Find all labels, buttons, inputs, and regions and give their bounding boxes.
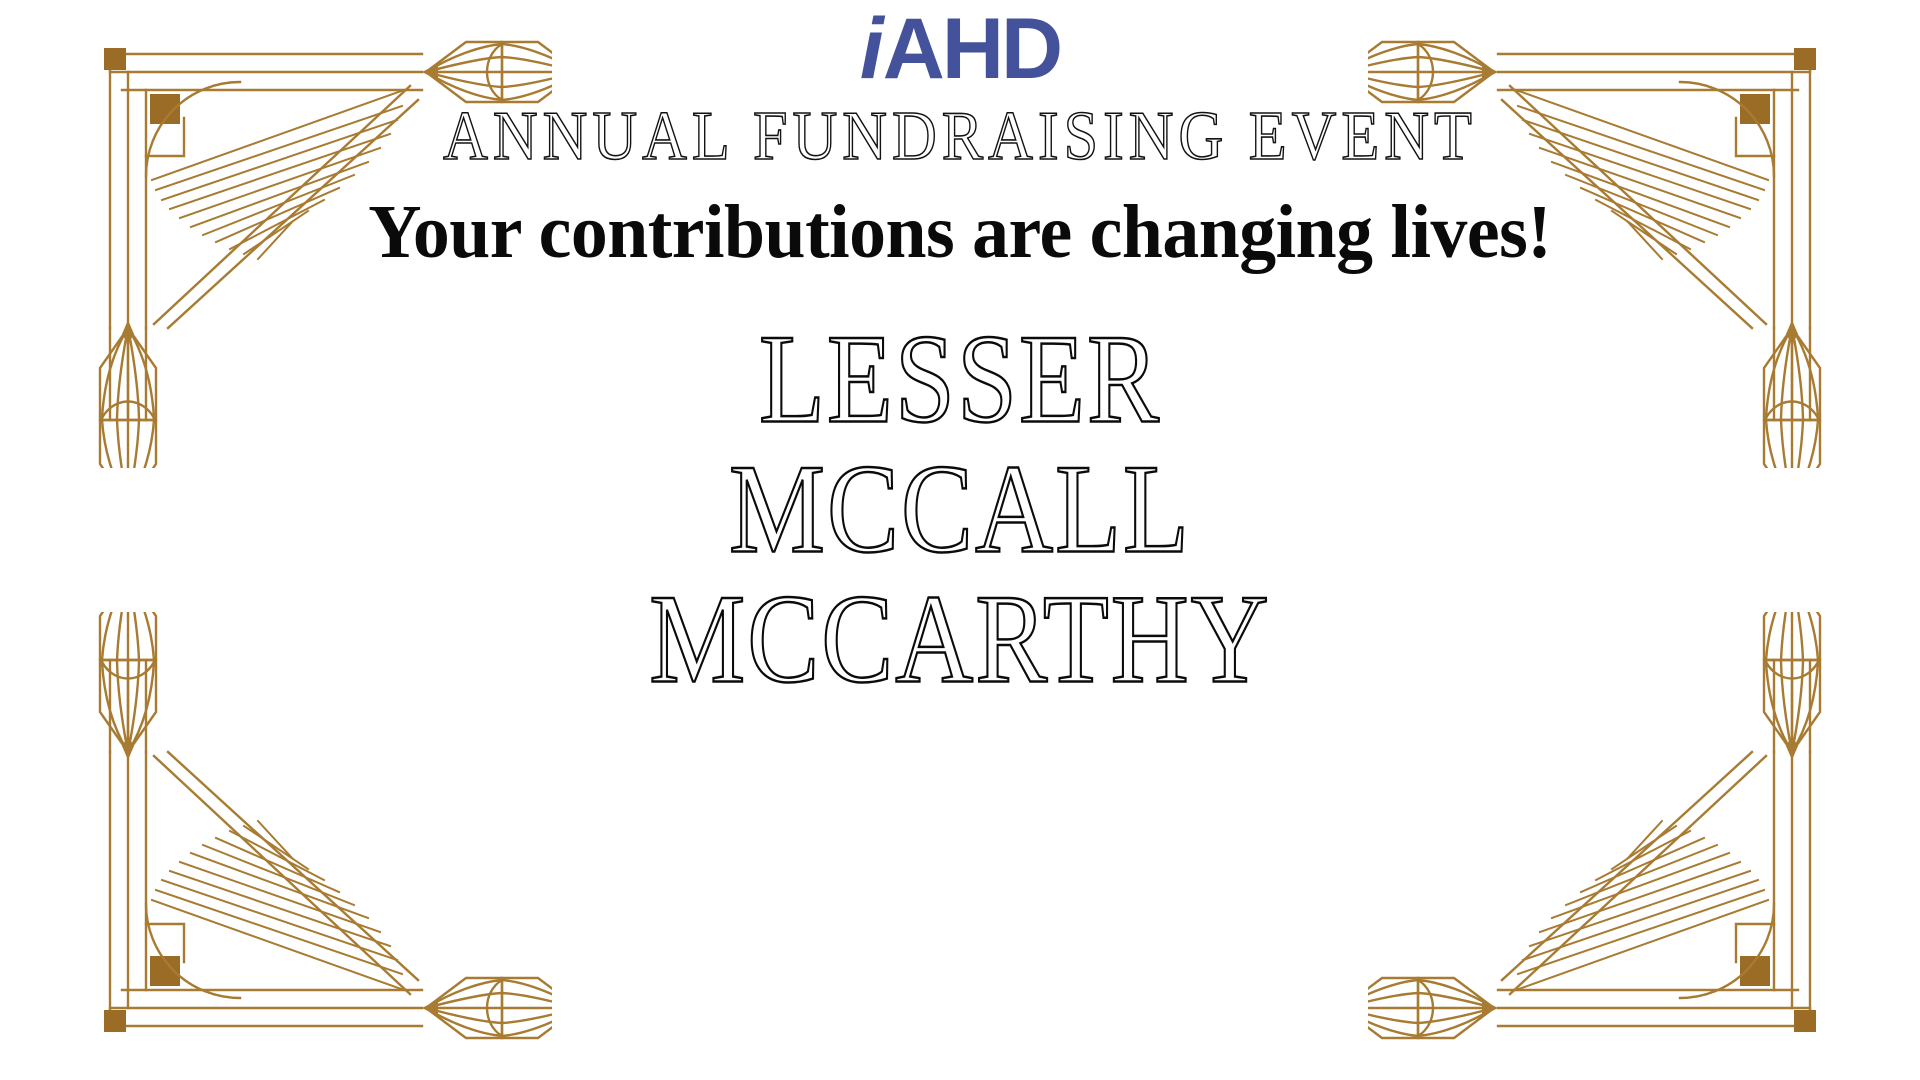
list-item: MCCALL [729, 446, 1191, 573]
logo-rest-letters: AHD [883, 1, 1060, 97]
iahd-logo: iAHD [860, 6, 1060, 92]
event-eyebrow: ANNUAL FUNDRAISING EVENT [443, 102, 1477, 171]
honoree-list: LESSER MCCALL MCCARTHY [649, 326, 1271, 694]
page-title: Your contributions are changing lives! [368, 194, 1551, 272]
list-item: LESSER [759, 316, 1161, 443]
list-item: MCCARTHY [649, 576, 1271, 703]
logo-lead-letter: i [860, 1, 883, 97]
poster-content: iAHD ANNUAL FUNDRAISING EVENT Your contr… [0, 0, 1920, 1080]
event-poster: iAHD ANNUAL FUNDRAISING EVENT Your contr… [0, 0, 1920, 1080]
